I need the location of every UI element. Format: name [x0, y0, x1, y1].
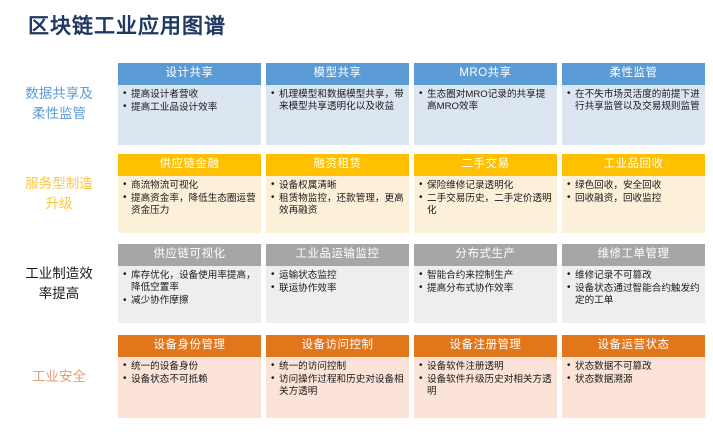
- application-matrix: 数据共享及 柔性监管设计共享提高设计者营收提高工业品设计效率模型共享机理模型和数…: [0, 57, 713, 429]
- bullet-list: 绿色回收，安全回收回收融资，回收监控: [567, 180, 701, 206]
- bullet-item: 维修记录不可篡改: [567, 270, 701, 282]
- card-group: 供应链金融商流物流可视化提高资金率，降低生态圈运营资金压力融资租赁设备权属清晰租…: [118, 154, 713, 233]
- card-body: 统一的设备身份设备状态不可抵赖: [118, 357, 261, 418]
- bullet-item: 状态数据不可篡改: [567, 361, 701, 373]
- matrix-row: 工业制造效 率提高供应链可视化库存优化，设备使用率提高，降低空置率减少协作摩擦工…: [0, 244, 713, 323]
- bullet-list: 统一的设备身份设备状态不可抵赖: [123, 361, 257, 387]
- card-header: 设备访问控制: [266, 335, 409, 357]
- bullet-item: 统一的设备身份: [123, 361, 257, 373]
- bullet-item: 智能合约来控制生产: [419, 270, 553, 282]
- bullet-list: 提高设计者营收提高工业品设计效率: [123, 89, 257, 115]
- bullet-list: 统一的访问控制访问操作过程和历史对设备相关方透明: [271, 361, 405, 399]
- bullet-list: 维修记录不可篡改设备状态通过智能合约触发约定的工单: [567, 270, 701, 308]
- card-header: 维修工单管理: [562, 244, 705, 266]
- card-body: 库存优化，设备使用率提高，降低空置率减少协作摩擦: [118, 266, 261, 323]
- card-header: 设备运营状态: [562, 335, 705, 357]
- bullet-item: 设备权属清晰: [271, 180, 405, 192]
- card-header: 柔性监管: [562, 63, 705, 85]
- bullet-item: 提高工业品设计效率: [123, 102, 257, 114]
- bullet-list: 状态数据不可篡改状态数据溯源: [567, 361, 701, 387]
- bullet-item: 回收融资，回收监控: [567, 193, 701, 205]
- row-label-1: 服务型制造 升级: [0, 154, 118, 233]
- card-body: 商流物流可视化提高资金率，降低生态圈运营资金压力: [118, 176, 261, 233]
- bullet-item: 访问操作过程和历史对设备相关方透明: [271, 374, 405, 399]
- bullet-item: 库存优化，设备使用率提高，降低空置率: [123, 270, 257, 295]
- bullet-item: 设备软件注册透明: [419, 361, 553, 373]
- card-header: 设备身份管理: [118, 335, 261, 357]
- application-card[interactable]: 供应链金融商流物流可视化提高资金率，降低生态圈运营资金压力: [118, 154, 261, 233]
- bullet-list: 在不失市场灵活度的前提下进行共享监管以及交易规则监管: [567, 89, 701, 114]
- bullet-item: 设备状态通过智能合约触发约定的工单: [567, 283, 701, 308]
- bullet-item: 二手交易历史，二手定价透明化: [419, 193, 553, 218]
- bullet-item: 商流物流可视化: [123, 180, 257, 192]
- card-body: 设备权属清晰租赁物监控，还款管理，更高效再融资: [266, 176, 409, 233]
- card-body: 保险维修记录透明化二手交易历史，二手定价透明化: [414, 176, 557, 233]
- row-label-3: 工业安全: [0, 335, 118, 418]
- card-body: 生态圈对MRO记录的共享提高MRO效率: [414, 85, 557, 145]
- bullet-list: 商流物流可视化提高资金率，降低生态圈运营资金压力: [123, 180, 257, 218]
- card-header: 工业品运输监控: [266, 244, 409, 266]
- application-card[interactable]: 模型共享机理模型和数据模型共享，带来模型共享透明化以及收益: [266, 63, 409, 145]
- card-body: 提高设计者营收提高工业品设计效率: [118, 85, 261, 145]
- card-header: 供应链金融: [118, 154, 261, 176]
- card-header: MRO共享: [414, 63, 557, 85]
- application-card[interactable]: 设备注册管理设备软件注册透明设备软件升级历史对相关方透明: [414, 335, 557, 418]
- application-card[interactable]: 设备运营状态状态数据不可篡改状态数据溯源: [562, 335, 705, 418]
- page-title: 区块链工业应用图谱: [28, 10, 226, 40]
- bullet-item: 设备软件升级历史对相关方透明: [419, 374, 553, 399]
- bullet-item: 提高资金率，降低生态圈运营资金压力: [123, 193, 257, 218]
- application-card[interactable]: MRO共享生态圈对MRO记录的共享提高MRO效率: [414, 63, 557, 145]
- card-header: 供应链可视化: [118, 244, 261, 266]
- bullet-item: 生态圈对MRO记录的共享提高MRO效率: [419, 89, 553, 114]
- row-label-0: 数据共享及 柔性监管: [0, 63, 118, 145]
- card-header: 设备注册管理: [414, 335, 557, 357]
- matrix-row: 工业安全设备身份管理统一的设备身份设备状态不可抵赖设备访问控制统一的访问控制访问…: [0, 335, 713, 418]
- card-body: 运输状态监控联运协作效率: [266, 266, 409, 323]
- application-card[interactable]: 分布式生产智能合约来控制生产提高分布式协作效率: [414, 244, 557, 323]
- application-card[interactable]: 设备身份管理统一的设备身份设备状态不可抵赖: [118, 335, 261, 418]
- card-header: 模型共享: [266, 63, 409, 85]
- card-header: 二手交易: [414, 154, 557, 176]
- application-card[interactable]: 设备访问控制统一的访问控制访问操作过程和历史对设备相关方透明: [266, 335, 409, 418]
- bullet-item: 在不失市场灵活度的前提下进行共享监管以及交易规则监管: [567, 89, 701, 114]
- bullet-item: 提高设计者营收: [123, 89, 257, 101]
- bullet-item: 租赁物监控，还款管理，更高效再融资: [271, 193, 405, 218]
- card-body: 绿色回收，安全回收回收融资，回收监控: [562, 176, 705, 233]
- card-body: 在不失市场灵活度的前提下进行共享监管以及交易规则监管: [562, 85, 705, 145]
- card-group: 设计共享提高设计者营收提高工业品设计效率模型共享机理模型和数据模型共享，带来模型…: [118, 63, 713, 145]
- bullet-item: 统一的访问控制: [271, 361, 405, 373]
- card-body: 机理模型和数据模型共享，带来模型共享透明化以及收益: [266, 85, 409, 145]
- bullet-list: 设备权属清晰租赁物监控，还款管理，更高效再融资: [271, 180, 405, 218]
- bullet-item: 机理模型和数据模型共享，带来模型共享透明化以及收益: [271, 89, 405, 114]
- bullet-item: 绿色回收，安全回收: [567, 180, 701, 192]
- bullet-list: 库存优化，设备使用率提高，降低空置率减少协作摩擦: [123, 270, 257, 308]
- bullet-list: 运输状态监控联运协作效率: [271, 270, 405, 296]
- card-body: 维修记录不可篡改设备状态通过智能合约触发约定的工单: [562, 266, 705, 323]
- matrix-row: 数据共享及 柔性监管设计共享提高设计者营收提高工业品设计效率模型共享机理模型和数…: [0, 63, 713, 145]
- card-body: 状态数据不可篡改状态数据溯源: [562, 357, 705, 418]
- application-card[interactable]: 柔性监管在不失市场灵活度的前提下进行共享监管以及交易规则监管: [562, 63, 705, 145]
- bullet-item: 提高分布式协作效率: [419, 283, 553, 295]
- card-header: 设计共享: [118, 63, 261, 85]
- bullet-list: 保险维修记录透明化二手交易历史，二手定价透明化: [419, 180, 553, 218]
- application-card[interactable]: 融资租赁设备权属清晰租赁物监控，还款管理，更高效再融资: [266, 154, 409, 233]
- application-card[interactable]: 维修工单管理维修记录不可篡改设备状态通过智能合约触发约定的工单: [562, 244, 705, 323]
- card-body: 设备软件注册透明设备软件升级历史对相关方透明: [414, 357, 557, 418]
- bullet-item: 保险维修记录透明化: [419, 180, 553, 192]
- application-card[interactable]: 二手交易保险维修记录透明化二手交易历史，二手定价透明化: [414, 154, 557, 233]
- bullet-list: 设备软件注册透明设备软件升级历史对相关方透明: [419, 361, 553, 399]
- application-card[interactable]: 设计共享提高设计者营收提高工业品设计效率: [118, 63, 261, 145]
- card-group: 设备身份管理统一的设备身份设备状态不可抵赖设备访问控制统一的访问控制访问操作过程…: [118, 335, 713, 418]
- matrix-row: 服务型制造 升级供应链金融商流物流可视化提高资金率，降低生态圈运营资金压力融资租…: [0, 154, 713, 233]
- bullet-item: 联运协作效率: [271, 283, 405, 295]
- card-header: 分布式生产: [414, 244, 557, 266]
- bullet-list: 机理模型和数据模型共享，带来模型共享透明化以及收益: [271, 89, 405, 114]
- card-header: 工业品回收: [562, 154, 705, 176]
- bullet-list: 智能合约来控制生产提高分布式协作效率: [419, 270, 553, 296]
- bullet-item: 减少协作摩擦: [123, 295, 257, 307]
- application-card[interactable]: 工业品运输监控运输状态监控联运协作效率: [266, 244, 409, 323]
- card-body: 智能合约来控制生产提高分布式协作效率: [414, 266, 557, 323]
- bullet-item: 状态数据溯源: [567, 374, 701, 386]
- bullet-item: 设备状态不可抵赖: [123, 374, 257, 386]
- bullet-list: 生态圈对MRO记录的共享提高MRO效率: [419, 89, 553, 114]
- row-label-2: 工业制造效 率提高: [0, 244, 118, 323]
- bullet-item: 运输状态监控: [271, 270, 405, 282]
- card-header: 融资租赁: [266, 154, 409, 176]
- application-card[interactable]: 工业品回收绿色回收，安全回收回收融资，回收监控: [562, 154, 705, 233]
- card-body: 统一的访问控制访问操作过程和历史对设备相关方透明: [266, 357, 409, 418]
- card-group: 供应链可视化库存优化，设备使用率提高，降低空置率减少协作摩擦工业品运输监控运输状…: [118, 244, 713, 323]
- application-card[interactable]: 供应链可视化库存优化，设备使用率提高，降低空置率减少协作摩擦: [118, 244, 261, 323]
